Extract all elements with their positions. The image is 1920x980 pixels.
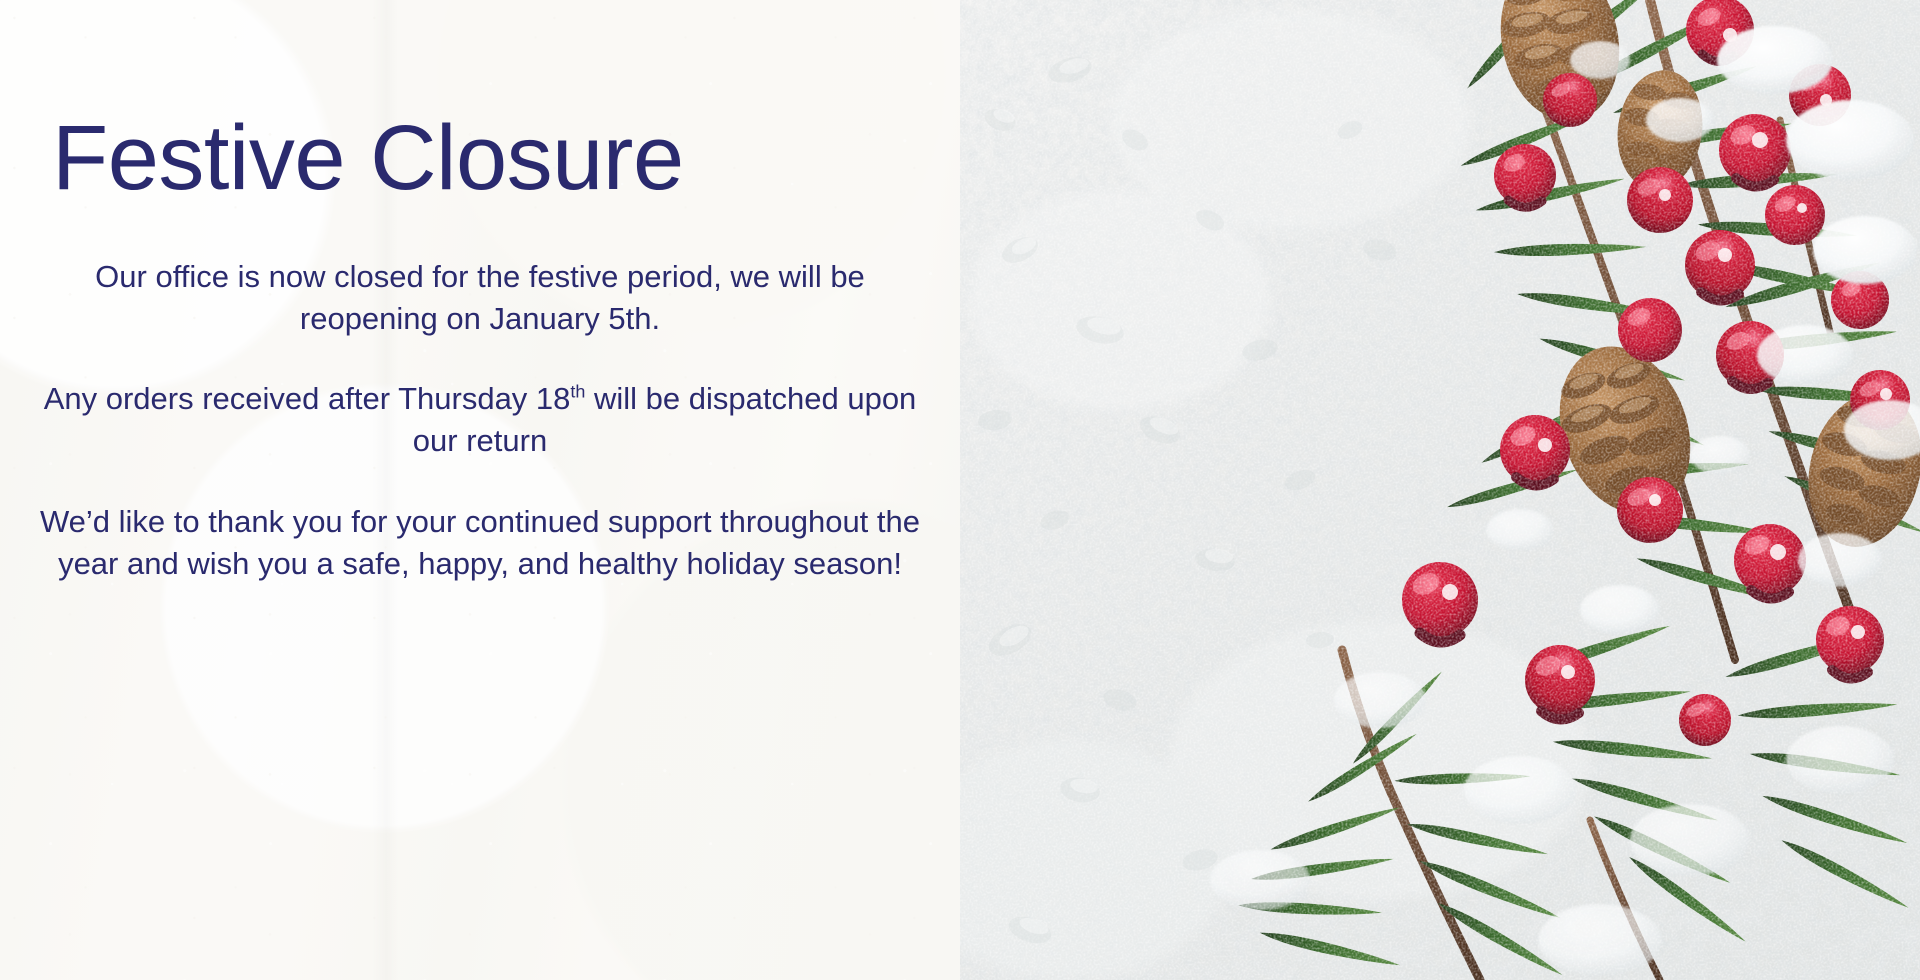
text-panel: Festive Closure Our office is now closed… — [0, 0, 960, 980]
page-title: Festive Closure — [52, 110, 912, 207]
body-text-block: Our office is now closed for the festive… — [30, 256, 930, 585]
ordinal-suffix: th — [570, 382, 585, 402]
photo-artwork — [960, 0, 1920, 980]
orders-text-before: Any orders received after Thursday 18 — [44, 381, 571, 416]
festive-closure-slide: Festive Closure Our office is now closed… — [0, 0, 1920, 980]
closure-paragraph: Our office is now closed for the festive… — [30, 256, 930, 340]
thanks-paragraph: We’d like to thank you for your continue… — [30, 501, 930, 585]
winter-berries-photo — [960, 0, 1920, 980]
orders-paragraph: Any orders received after Thursday 18th … — [30, 378, 930, 462]
